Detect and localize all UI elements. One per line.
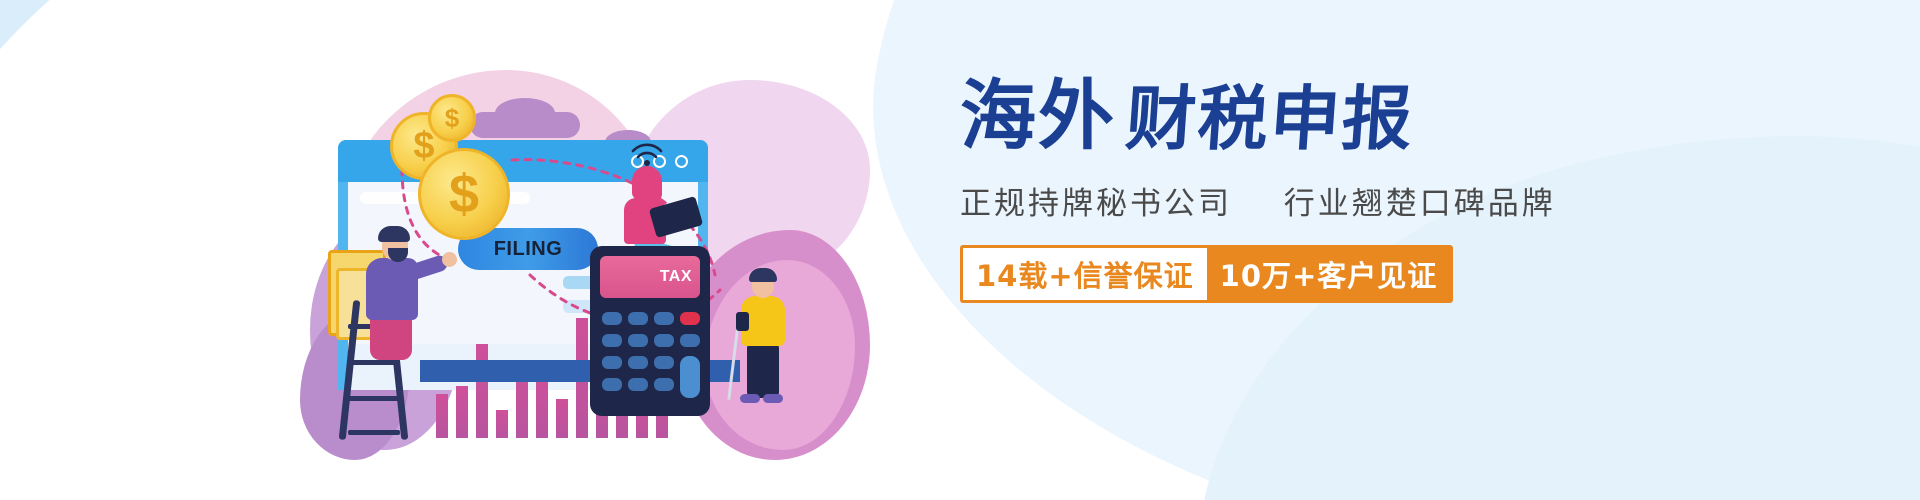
calculator-display: TAX (600, 256, 700, 298)
subtitle-right: 行业翘楚口碑品牌 (1284, 186, 1556, 222)
coin-symbol: $ (445, 103, 459, 134)
status-badge-experience: 14载+信誉保证 (963, 248, 1207, 300)
calculator-display-text: TAX (660, 268, 692, 286)
badge-group: 14载+信誉保证 10万+客户见证 (960, 245, 1453, 303)
calculator-key-enter (680, 356, 700, 398)
calculator-key (654, 334, 674, 347)
chart-bar (476, 344, 488, 438)
character-yellow-shoe (763, 394, 783, 403)
calculator-key (602, 334, 622, 347)
hero-illustration: FILING $ $ $ (300, 60, 860, 460)
banner-subtitle: 正规持牌秘书公司 行业翘楚口碑品牌 (960, 178, 1660, 223)
wifi-icon (630, 142, 664, 168)
calculator-key (602, 312, 622, 325)
calculator-key (602, 356, 622, 369)
ladder-step (348, 430, 400, 435)
filing-button-label: FILING (494, 238, 563, 261)
calculator-icon: TAX (590, 246, 710, 416)
calculator-key-red (680, 312, 700, 325)
calculator-key (654, 312, 674, 325)
character-yellow-shoe (740, 394, 760, 403)
calculator-key (680, 334, 700, 347)
headline-secondary: 财税申报 (1124, 84, 1417, 154)
character-male-hand (442, 252, 457, 267)
character-female-hair (632, 166, 662, 200)
page-title: 海外 财税申报 (960, 78, 1660, 154)
ladder-step (348, 360, 400, 365)
calculator-key (628, 312, 648, 325)
chart-bar (496, 410, 508, 438)
coin-icon: $ (428, 94, 476, 142)
banner-text-block: 海外 财税申报 正规持牌秘书公司 行业翘楚口碑品牌 14载+信誉保证 10万+客… (960, 78, 1660, 303)
ladder-rail (339, 300, 361, 440)
character-male-legs (370, 316, 412, 360)
calculator-key (628, 334, 648, 347)
promo-banner: FILING $ $ $ (0, 0, 1920, 500)
status-badge-customers: 10万+客户见证 (1207, 248, 1451, 300)
calculator-key (602, 378, 622, 391)
character-male-hair (378, 226, 410, 242)
coin-icon: $ (418, 148, 510, 240)
chart-bar (456, 386, 468, 438)
chart-bar (556, 399, 568, 438)
phone-icon (736, 312, 749, 331)
character-yellow-legs (747, 344, 779, 398)
headline-primary: 海外 (960, 78, 1116, 154)
coin-symbol: $ (449, 163, 479, 225)
calculator-key (628, 378, 648, 391)
calculator-key (654, 378, 674, 391)
character-yellow-hair (749, 268, 777, 282)
subtitle-left: 正规持牌秘书公司 (960, 186, 1232, 222)
calculator-key (654, 356, 674, 369)
ladder-step (348, 396, 400, 401)
chart-bar (436, 394, 448, 438)
calculator-key (628, 356, 648, 369)
chart-bar (536, 373, 548, 438)
